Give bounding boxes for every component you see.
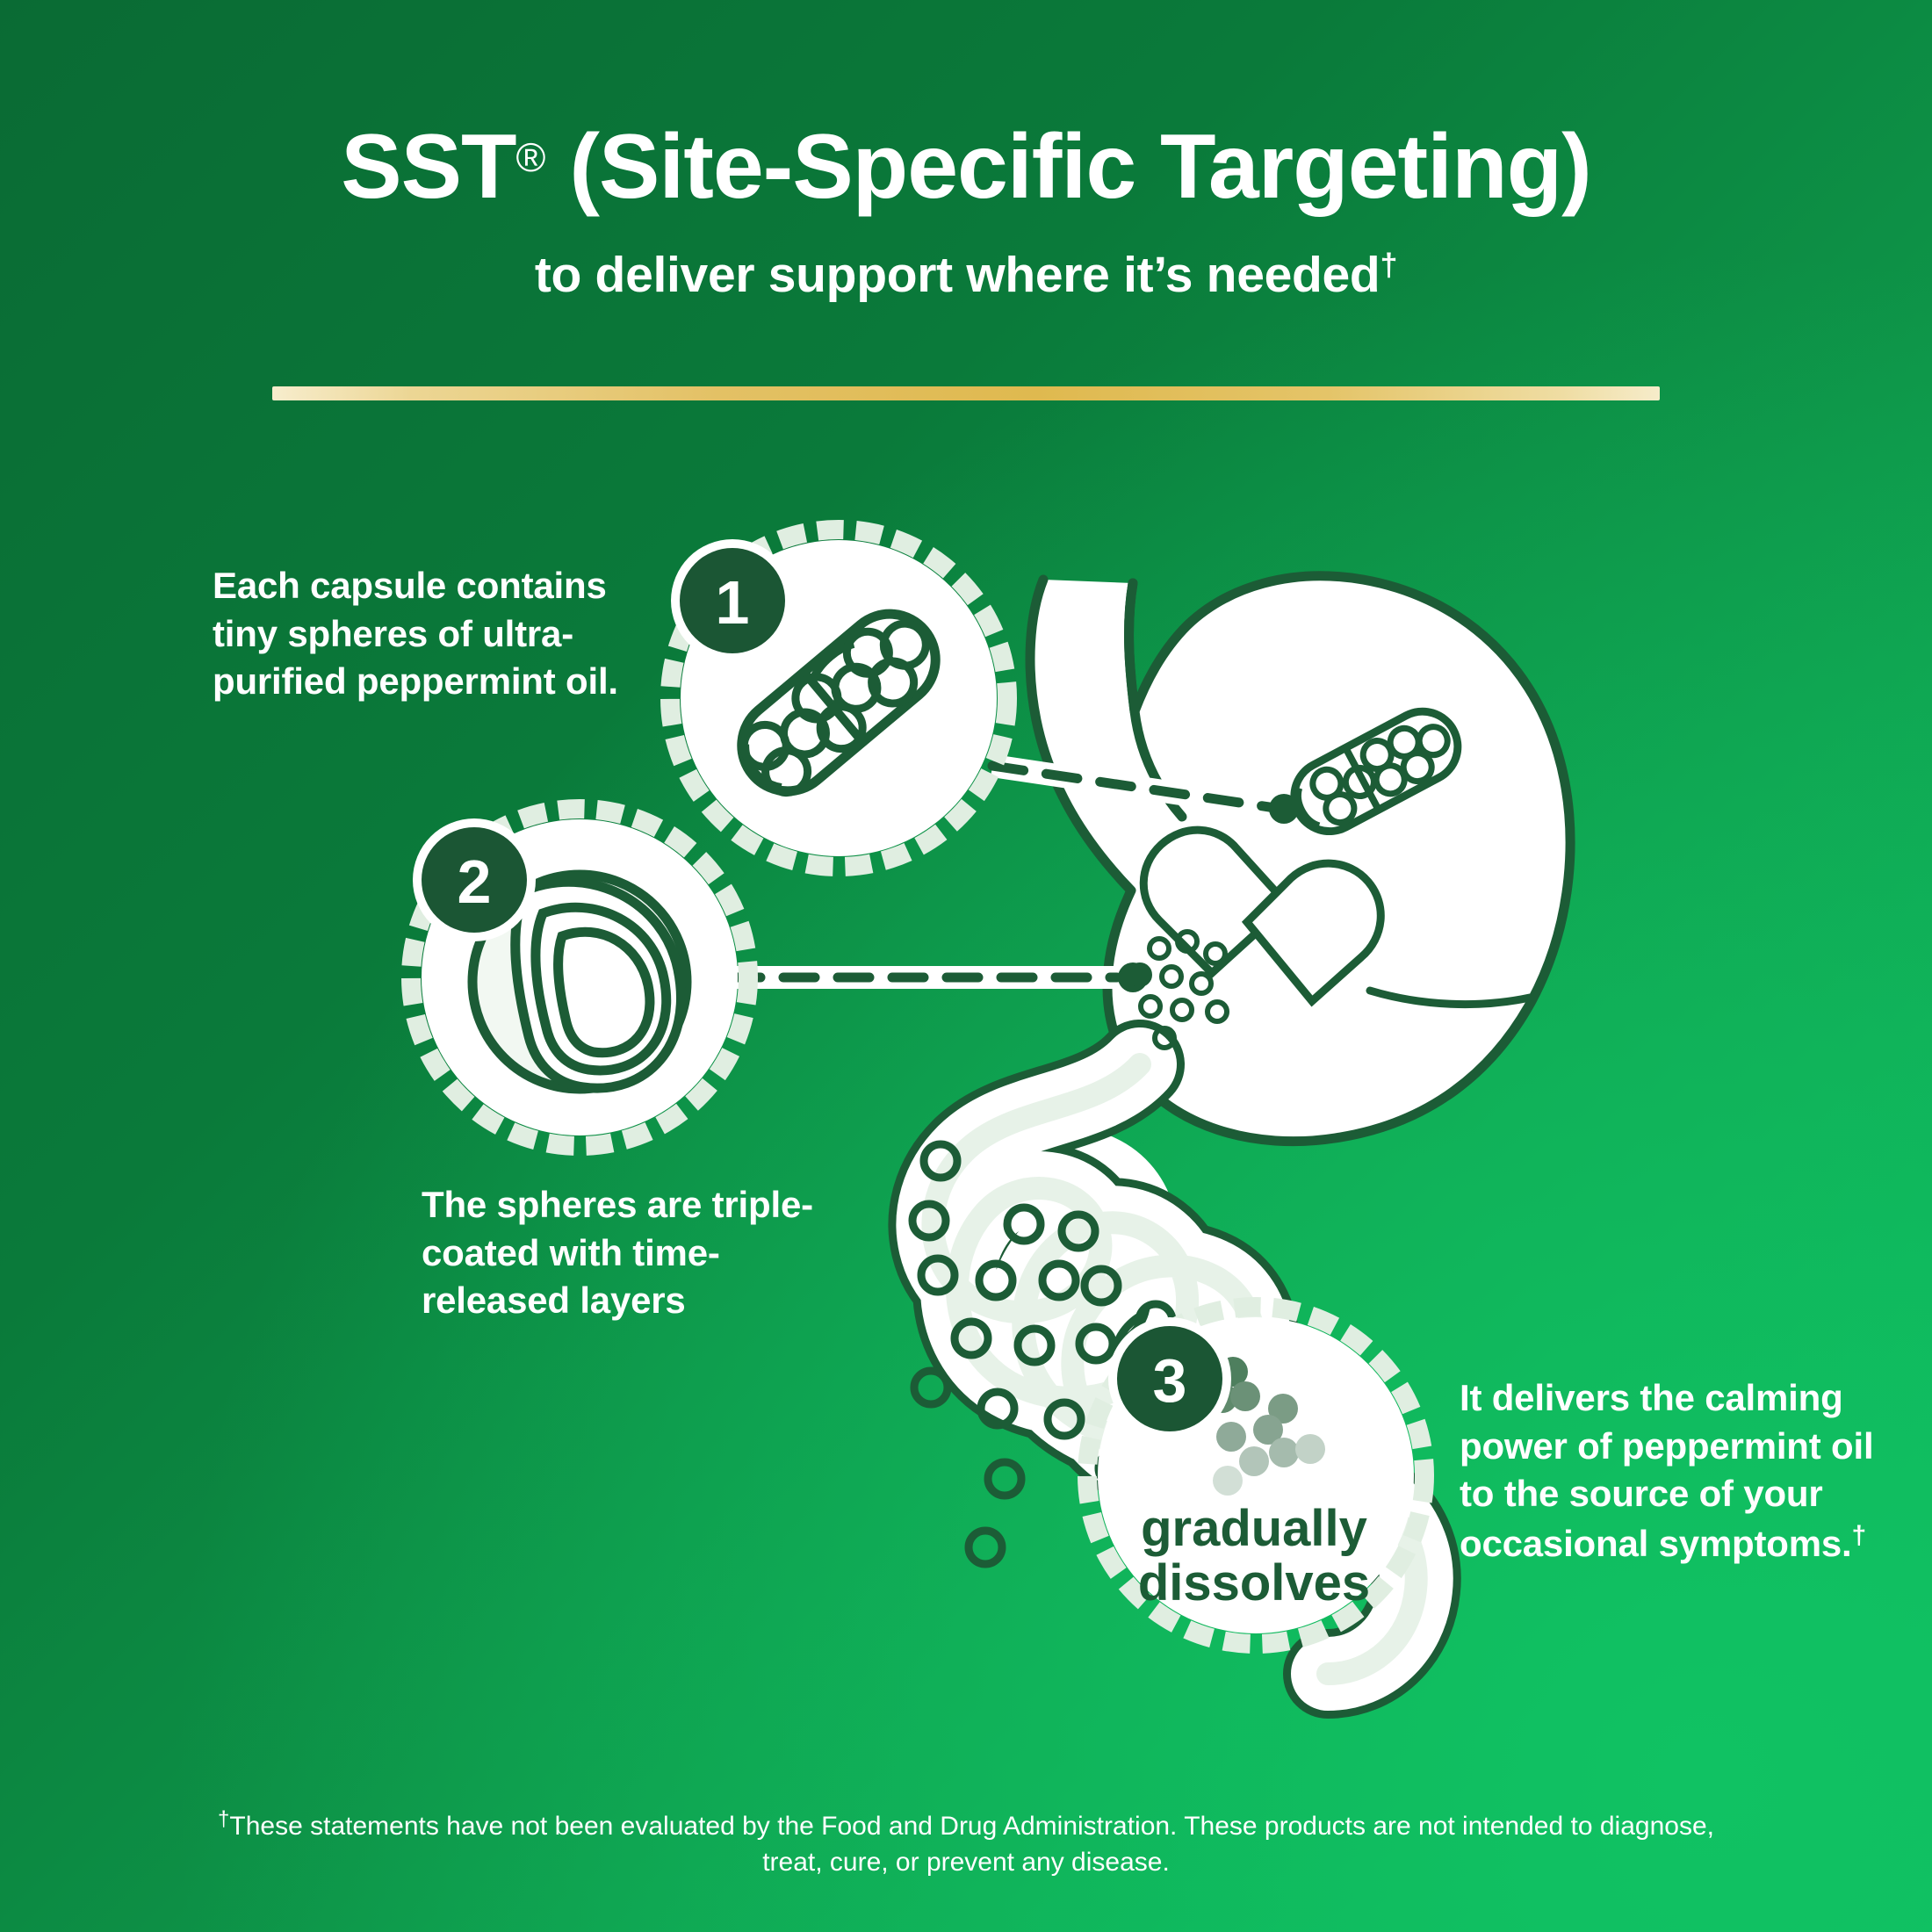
step-3-number: 3 <box>1153 1346 1187 1415</box>
step-1-callout-circle: 1 <box>670 530 1007 867</box>
step-1-description: Each capsule contains tiny spheres of ul… <box>213 562 652 706</box>
dagger-icon: † <box>218 1807 229 1831</box>
dagger-icon: † <box>1852 1521 1867 1550</box>
step-2-number: 2 <box>458 847 492 916</box>
footer-line-1: These statements have not been evaluated… <box>229 1812 1257 1841</box>
step-2-description: The spheres are triple-coated with time-… <box>422 1181 834 1325</box>
step-1-number: 1 <box>716 568 750 637</box>
step-3-description: It delivers the calming power of pepperm… <box>1460 1374 1899 1568</box>
step-3-callout-circle: gradually dissolves 3 <box>1087 1307 1424 1644</box>
infographic-canvas: SST® (Site-Specific Targeting) to delive… <box>0 0 1932 1932</box>
step-3-caption-line1: gradually <box>1141 1500 1367 1557</box>
step-2-callout-circle: 2 <box>411 809 748 1146</box>
step-3-description-text: It delivers the calming power of pepperm… <box>1460 1377 1873 1564</box>
digestive-diagram: .ink { stroke:#1c5c36; fill:none; stroke… <box>0 0 1932 1932</box>
step-3-caption-line2: dissolves <box>1138 1554 1370 1611</box>
footer-disclaimer: †These statements have not been evaluate… <box>211 1805 1721 1881</box>
